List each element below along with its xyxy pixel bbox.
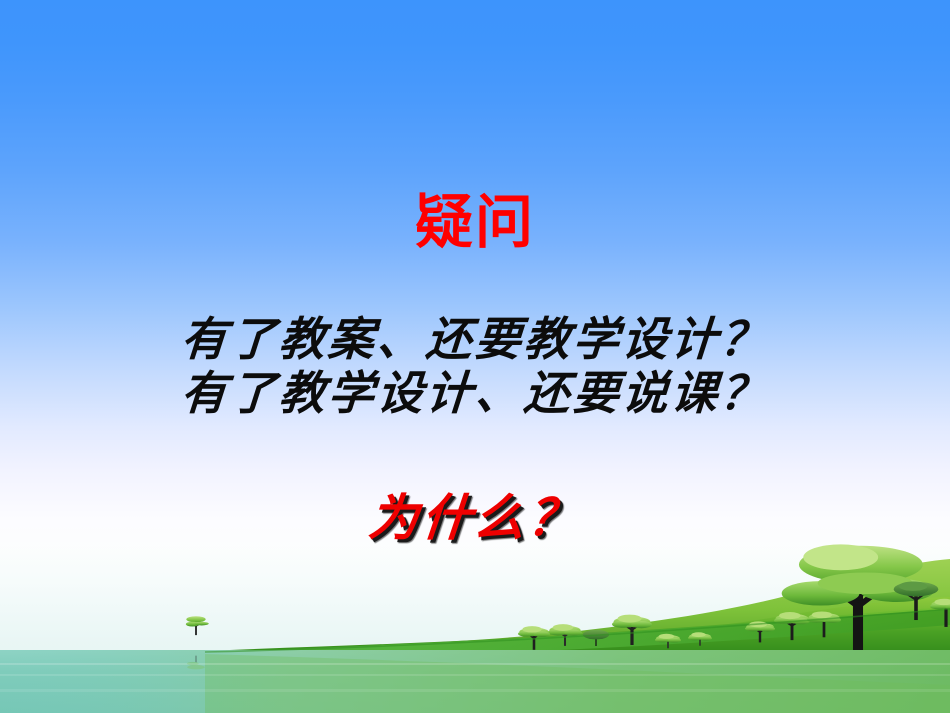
body-text-block: 有了教案、还要教学设计？ 有了教学设计、还要说课？ — [0, 312, 950, 420]
emphasis-text: 为什么？ — [0, 478, 950, 550]
body-line-2: 有了教学设计、还要说课？ — [0, 366, 950, 420]
slide-text-layer: 疑问 有了教案、还要教学设计？ 有了教学设计、还要说课？ 为什么？ — [0, 0, 950, 713]
presentation-slide: 疑问 有了教案、还要教学设计？ 有了教学设计、还要说课？ 为什么？ — [0, 0, 950, 713]
body-line-1: 有了教案、还要教学设计？ — [0, 312, 950, 366]
page-title: 疑问 — [0, 192, 950, 253]
